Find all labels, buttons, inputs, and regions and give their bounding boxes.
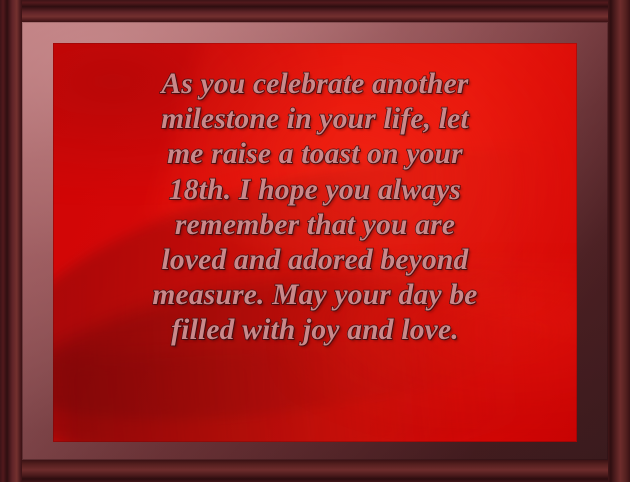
artwork-canvas: As you celebrate another milestone in yo… <box>53 43 577 442</box>
frame-moulding-top <box>0 0 630 22</box>
background-swoosh-bottom-left <box>60 336 475 442</box>
frame-moulding-bottom <box>0 460 630 482</box>
greeting-message-text: As you celebrate another milestone in yo… <box>53 67 577 349</box>
frame-moulding-left <box>0 0 22 482</box>
picture-frame: As you celebrate another milestone in yo… <box>0 0 630 482</box>
frame-moulding-right <box>608 0 630 482</box>
